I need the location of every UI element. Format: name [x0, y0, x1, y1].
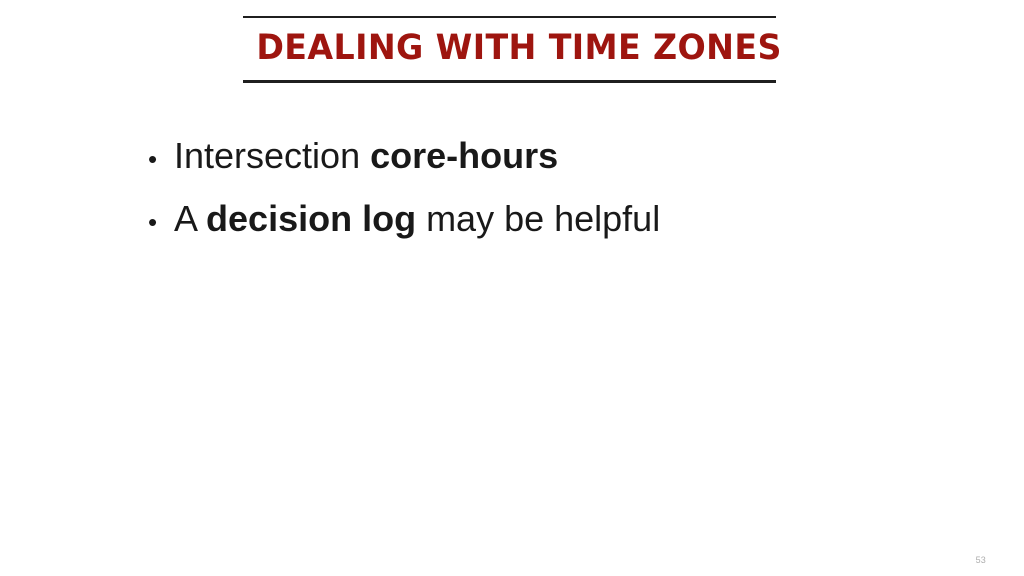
list-item-emphasis-text: decision log	[206, 198, 416, 239]
bullet-point-icon: •	[148, 192, 174, 252]
list-item-lead-text: Intersection	[174, 135, 370, 176]
bullet-list: • Intersection core-hours • A decision l…	[148, 126, 948, 252]
list-item: • A decision log may be helpful	[148, 189, 948, 252]
list-item-lead-text: A	[174, 198, 206, 239]
list-item-text: Intersection core-hours	[174, 126, 558, 186]
slide-title-block: DEALING WITH TIME ZONES	[243, 16, 776, 83]
list-item: • Intersection core-hours	[148, 126, 948, 189]
list-item-emphasis-text: core-hours	[370, 135, 558, 176]
presentation-slide: DEALING WITH TIME ZONES • Intersection c…	[0, 0, 1024, 576]
list-item-trail-text: may be helpful	[416, 198, 660, 239]
title-rule-bottom	[243, 80, 776, 83]
slide-page-number: 53	[976, 556, 986, 565]
list-item-text: A decision log may be helpful	[174, 189, 660, 249]
bullet-point-icon: •	[148, 129, 174, 189]
page-title: DEALING WITH TIME ZONES	[256, 18, 762, 80]
